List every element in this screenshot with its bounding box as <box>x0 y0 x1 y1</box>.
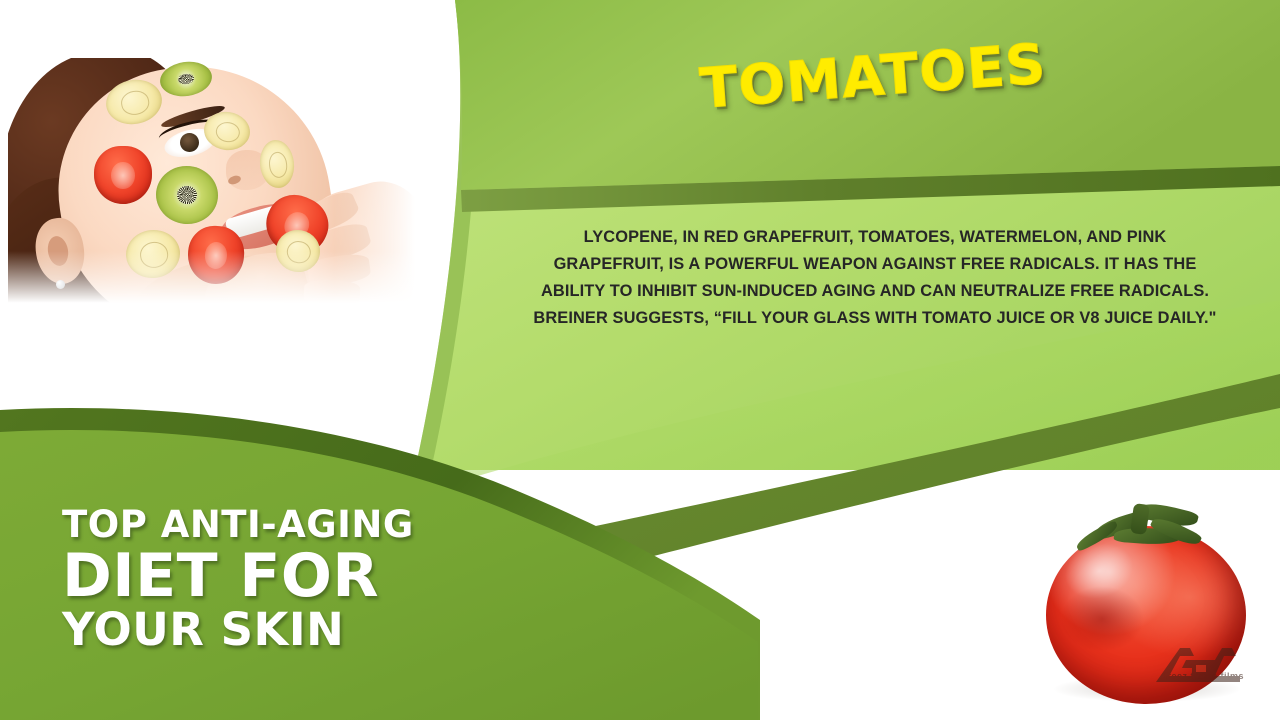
slide-canvas: freez frame films TOMATOES LYCOPENE, IN … <box>0 0 1280 720</box>
body-line: GRAPEFRUIT, IS A POWERFUL WEAPON AGAINST… <box>470 251 1280 278</box>
series-title-line-1: TOP ANTI-AGING <box>62 506 582 543</box>
body-copy: LYCOPENE, IN RED GRAPEFRUIT, TOMATOES, W… <box>470 224 1280 332</box>
strawberry-slice <box>94 146 152 204</box>
body-line: LYCOPENE, IN RED GRAPEFRUIT, TOMATOES, W… <box>470 224 1280 251</box>
series-title: TOP ANTI-AGING DIET FOR YOUR SKIN <box>62 506 582 652</box>
series-title-line-2: DIET FOR <box>62 546 582 606</box>
woman-fruit-facial-photo <box>8 58 420 323</box>
series-title-line-3: YOUR SKIN <box>62 607 582 652</box>
body-line: ABILITY TO INHIBIT SUN-INDUCED AGING AND… <box>470 278 1280 305</box>
watermark-text: freez frame films <box>1164 671 1244 681</box>
ff-monogram-icon <box>1150 638 1254 690</box>
body-line: BREINER SUGGESTS, “FILL YOUR GLASS WITH … <box>470 305 1280 332</box>
freez-frame-films-watermark: freez frame films <box>1150 638 1254 690</box>
